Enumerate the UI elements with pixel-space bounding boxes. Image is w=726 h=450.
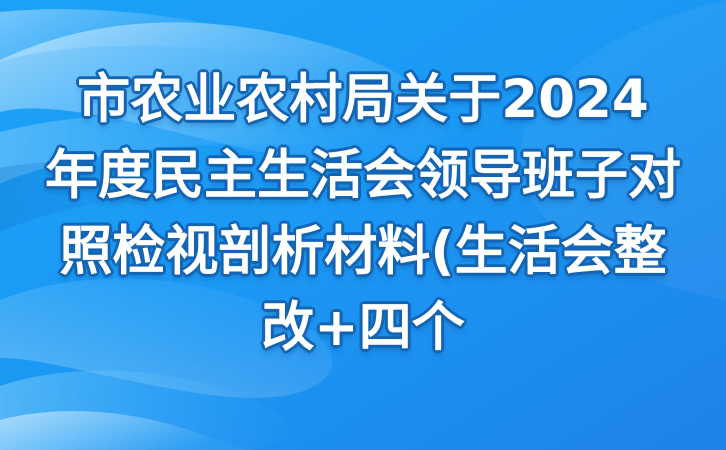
banner-title: 市农业农村局关于2024 年度民主生活会领导班子对 照检视剖析材料(生活会整 改… [0,0,726,450]
title-line-1: 市农业农村局关于2024 [77,62,649,138]
title-line-2: 年度民主生活会领导班子对 [45,138,681,214]
title-line-3: 照检视剖析材料(生活会整 [59,214,666,290]
title-banner: 市农业农村局关于2024 年度民主生活会领导班子对 照检视剖析材料(生活会整 改… [0,0,726,450]
title-line-4: 改+四个 [261,290,464,366]
